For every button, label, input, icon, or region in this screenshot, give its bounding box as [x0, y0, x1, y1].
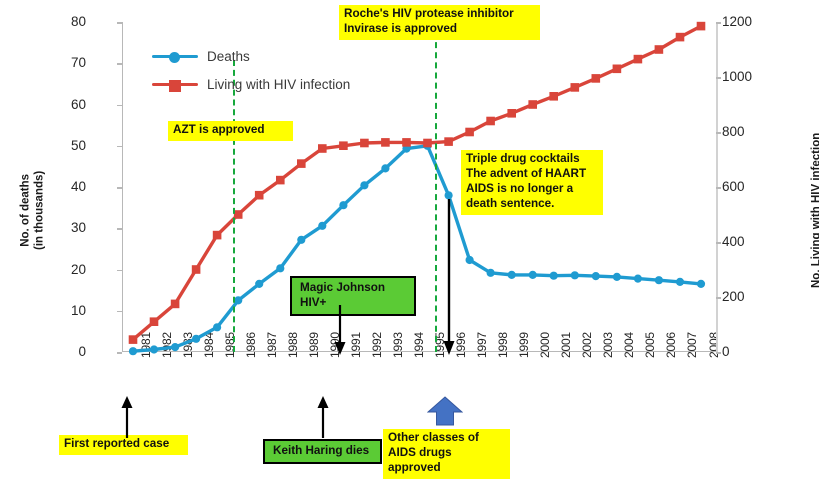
data-point-circle: [466, 256, 474, 264]
data-point-square: [381, 138, 390, 147]
series-deaths: [129, 142, 705, 356]
data-point-circle: [297, 236, 305, 244]
data-point-square: [507, 109, 516, 118]
annotation-other-drugs: Other classes of AIDS drugs approved: [383, 429, 510, 479]
data-point-square: [297, 159, 306, 168]
data-point-circle: [339, 201, 347, 209]
data-point-square: [192, 265, 201, 274]
data-point-square: [423, 139, 432, 148]
data-point-square: [465, 128, 474, 137]
arrow-other-drugs: [427, 396, 463, 426]
data-point-square: [634, 55, 643, 64]
annotation-magic-johnson: Magic Johnson HIV+: [290, 276, 416, 316]
data-point-circle: [571, 271, 579, 279]
data-point-circle: [697, 280, 705, 288]
arrow-haart: [442, 199, 456, 355]
annotation-haart: Triple drug cocktails The advent of HAAR…: [461, 150, 603, 215]
data-point-circle: [276, 264, 284, 272]
series-line: [133, 146, 701, 351]
data-point-circle: [550, 272, 558, 280]
data-point-square: [676, 33, 685, 42]
data-point-square: [360, 139, 369, 148]
legend-item-living: Living with HIV infection: [152, 70, 350, 98]
data-point-circle: [171, 343, 179, 351]
data-point-circle: [360, 181, 368, 189]
data-point-circle: [487, 269, 495, 277]
data-point-square: [171, 300, 180, 309]
data-point-circle: [318, 222, 326, 230]
data-point-square: [129, 335, 138, 344]
arrow-first-case: [120, 396, 134, 438]
legend: Deaths Living with HIV infection: [152, 42, 350, 98]
data-point-circle: [234, 296, 242, 304]
legend-item-deaths: Deaths: [152, 42, 350, 70]
data-point-square: [613, 65, 622, 74]
legend-marker-square-icon: [152, 77, 198, 91]
legend-label-deaths: Deaths: [207, 49, 250, 64]
annotation-keith-haring: Keith Haring dies: [263, 439, 382, 464]
chart-canvas: No. of deaths (in thousands) No. Living …: [0, 0, 819, 481]
data-point-circle: [255, 280, 263, 288]
arrow-keith-haring: [316, 396, 330, 438]
data-point-square: [592, 74, 601, 83]
data-point-circle: [129, 347, 137, 355]
data-point-circle: [634, 275, 642, 283]
data-point-square: [234, 210, 243, 219]
data-point-circle: [676, 278, 684, 286]
data-point-square: [213, 231, 222, 240]
data-point-square: [339, 141, 348, 150]
data-point-square: [402, 138, 411, 147]
data-point-square: [318, 144, 327, 153]
data-point-circle: [192, 335, 200, 343]
event-line-invirase: [435, 32, 437, 352]
annotation-azt: AZT is approved: [168, 121, 293, 141]
data-point-circle: [213, 323, 221, 331]
data-point-square: [571, 83, 580, 92]
data-point-square: [255, 191, 264, 200]
data-point-square: [444, 137, 453, 146]
annotation-invirase: Roche's HIV protease inhibitor Invirase …: [339, 5, 540, 40]
data-point-square: [150, 317, 159, 326]
data-point-circle: [655, 276, 663, 284]
data-point-square: [486, 117, 495, 126]
legend-label-living: Living with HIV infection: [207, 77, 350, 92]
data-point-circle: [592, 272, 600, 280]
arrow-magic-johnson: [333, 305, 347, 355]
data-point-square: [528, 100, 537, 109]
legend-marker-circle-icon: [152, 49, 198, 63]
data-point-circle: [150, 345, 158, 353]
data-point-circle: [529, 271, 537, 279]
data-point-square: [549, 92, 558, 101]
data-point-square: [655, 45, 664, 54]
data-point-circle: [381, 164, 389, 172]
data-point-circle: [613, 273, 621, 281]
data-point-circle: [508, 271, 516, 279]
event-line-azt: [233, 60, 235, 352]
data-point-square: [697, 22, 706, 31]
data-point-square: [276, 176, 285, 185]
